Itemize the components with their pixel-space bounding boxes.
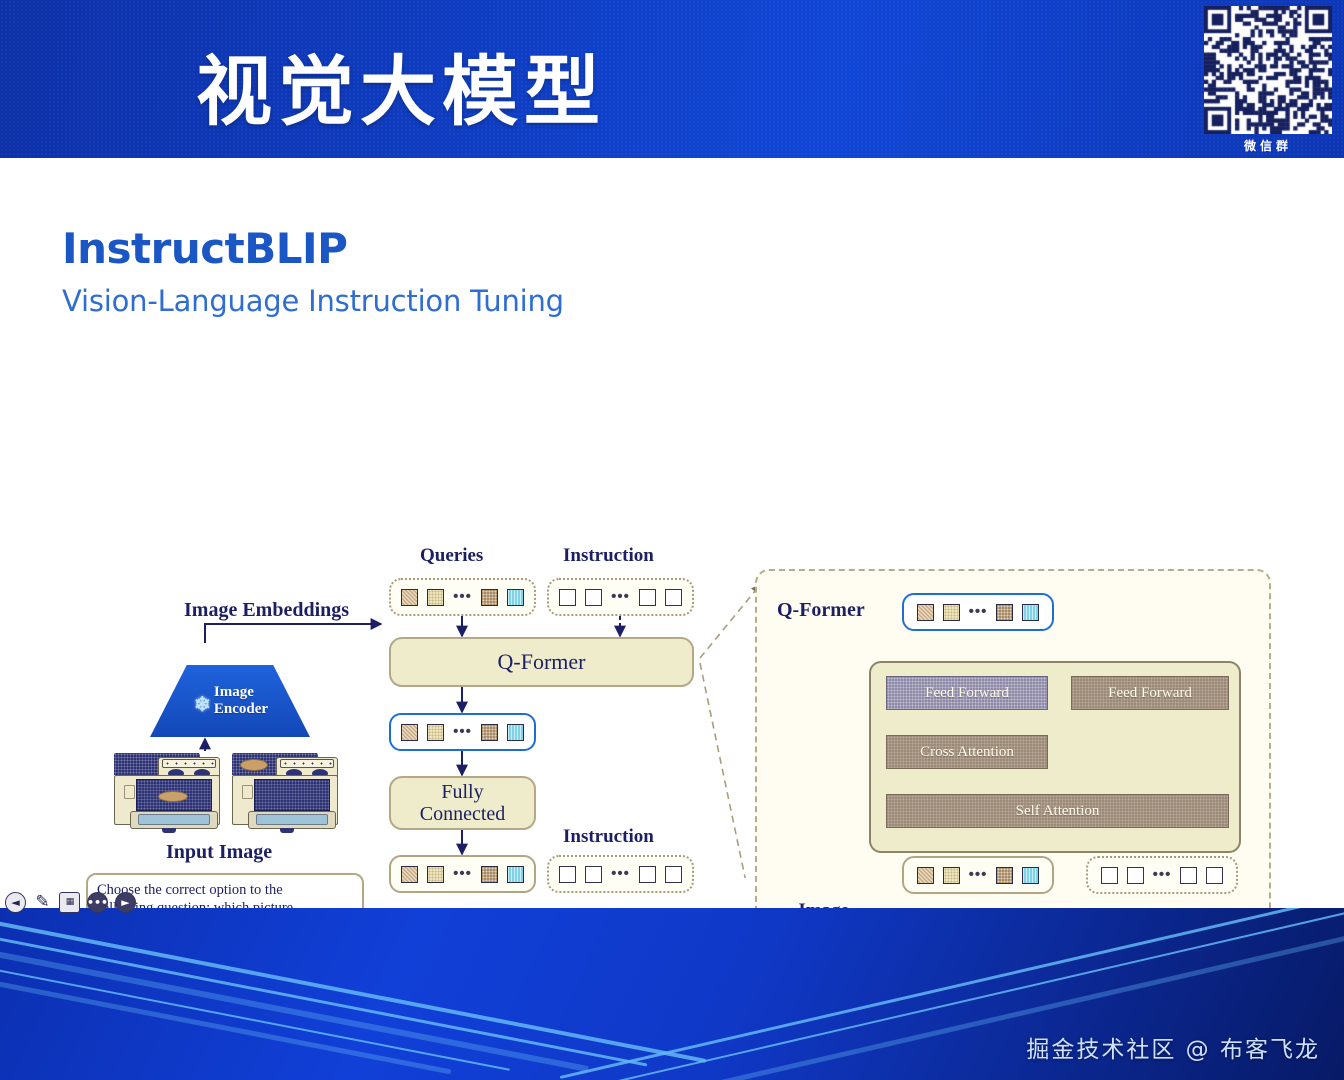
llm-input-token [401, 866, 418, 883]
instruction-token [1180, 867, 1197, 884]
detail-queries-token-strip: ••• [902, 856, 1054, 894]
instruction-token-strip-bottom: ••• [547, 855, 694, 893]
query-token [401, 589, 418, 606]
oven-left-pizza-inside [112, 751, 220, 837]
instruction-token [639, 866, 656, 883]
output-token [917, 604, 934, 621]
previous-slide-icon[interactable]: ◄ [5, 892, 26, 913]
ellipsis-icon: ••• [1153, 871, 1172, 879]
more-options-icon[interactable]: ••• [87, 892, 108, 913]
detail-instruction-token-strip: ••• [1086, 856, 1238, 894]
cross-attention-block: Cross Attention [886, 735, 1048, 769]
footer-watermark: 掘金技术社区 @ 布客飞龙 [1026, 1030, 1320, 1064]
llm-input-token-strip: ••• [389, 855, 536, 893]
instructblip-architecture-figure: Image Embeddings ❄ Image Encoder Inpu [0, 373, 1344, 878]
query-token [481, 589, 498, 606]
ellipsis-icon: ••• [453, 593, 472, 601]
image-encoder-block: ❄ Image Encoder [150, 665, 310, 737]
output-token [481, 724, 498, 741]
llm-input-token [507, 866, 524, 883]
label-image-embeddings: Image Embeddings [184, 599, 349, 622]
next-slide-icon[interactable]: ► [115, 892, 136, 913]
wechat-qr-block: 微信群 [1204, 6, 1332, 154]
presenter-toolbar[interactable]: ◄ ✎ ▦ ••• ► [5, 892, 136, 913]
label-instruction-bottom: Instruction [563, 826, 654, 848]
ellipsis-icon: ••• [611, 870, 630, 878]
instruction-token [1206, 867, 1223, 884]
snowflake-icon: ❄ [194, 695, 211, 715]
query-token [427, 589, 444, 606]
qr-code-canvas [1204, 6, 1332, 134]
qformer-detail-panel: Q-Former ••• Feed Forward Feed Forward C… [755, 569, 1271, 966]
instruction-token [1127, 867, 1144, 884]
output-token [401, 724, 418, 741]
query-token [917, 867, 934, 884]
instruction-token [585, 866, 602, 883]
slide-overview-icon[interactable]: ▦ [59, 892, 80, 913]
instruction-token [559, 589, 576, 606]
input-image-photos [112, 751, 340, 837]
label-queries-top: Queries [420, 545, 483, 567]
query-token [943, 867, 960, 884]
label-instruction-top: Instruction [563, 545, 654, 567]
output-token [996, 604, 1013, 621]
page-subtitle: Vision-Language Instruction Tuning [62, 284, 564, 318]
q-former-block: Q-Former [389, 637, 694, 687]
qformer-output-token-strip: ••• [389, 713, 536, 751]
instruction-token [665, 866, 682, 883]
instruction-token [585, 589, 602, 606]
slide-content-area: InstructBLIP Vision-Language Instruction… [0, 158, 1344, 908]
query-token [1022, 867, 1039, 884]
slide-footer-decoration: 掘金技术社区 @ 布客飞龙 [0, 908, 1344, 1080]
ellipsis-icon: ••• [611, 593, 630, 601]
ellipsis-icon: ••• [969, 871, 988, 879]
qformer-inner-stack: Feed Forward Feed Forward Cross Attentio… [869, 661, 1241, 853]
query-token [996, 867, 1013, 884]
slide-main-title: 视觉大模型 [196, 30, 606, 140]
pen-tool-icon[interactable]: ✎ [33, 893, 52, 912]
feed-forward-right-block: Feed Forward [1071, 676, 1229, 710]
ellipsis-icon: ••• [453, 870, 472, 878]
query-token [507, 589, 524, 606]
llm-input-token [481, 866, 498, 883]
fully-connected-block: FullyConnected [389, 776, 536, 830]
self-attention-block: Self Attention [886, 794, 1229, 828]
output-token [1022, 604, 1039, 621]
instruction-token-strip-top: ••• [547, 578, 694, 616]
oven-right-pizza-on-top [230, 751, 338, 837]
queries-token-strip-top: ••• [389, 578, 536, 616]
instruction-token [559, 866, 576, 883]
label-input-image: Input Image [166, 841, 272, 864]
output-token [427, 724, 444, 741]
instruction-token [1101, 867, 1118, 884]
page-title: InstructBLIP [62, 224, 347, 273]
llm-input-token [427, 866, 444, 883]
output-token [943, 604, 960, 621]
feed-forward-left-block: Feed Forward [886, 676, 1048, 710]
detail-qformer-title: Q-Former [777, 599, 865, 622]
ellipsis-icon: ••• [969, 608, 988, 616]
qr-code-icon[interactable] [1204, 6, 1332, 134]
ellipsis-icon: ••• [453, 728, 472, 736]
output-token [507, 724, 524, 741]
instruction-token [639, 589, 656, 606]
slide-header-banner: 视觉大模型 微信群 [0, 0, 1344, 158]
instruction-token [665, 589, 682, 606]
detail-output-token-strip: ••• [902, 593, 1054, 631]
qr-code-label: 微信群 [1204, 137, 1332, 154]
